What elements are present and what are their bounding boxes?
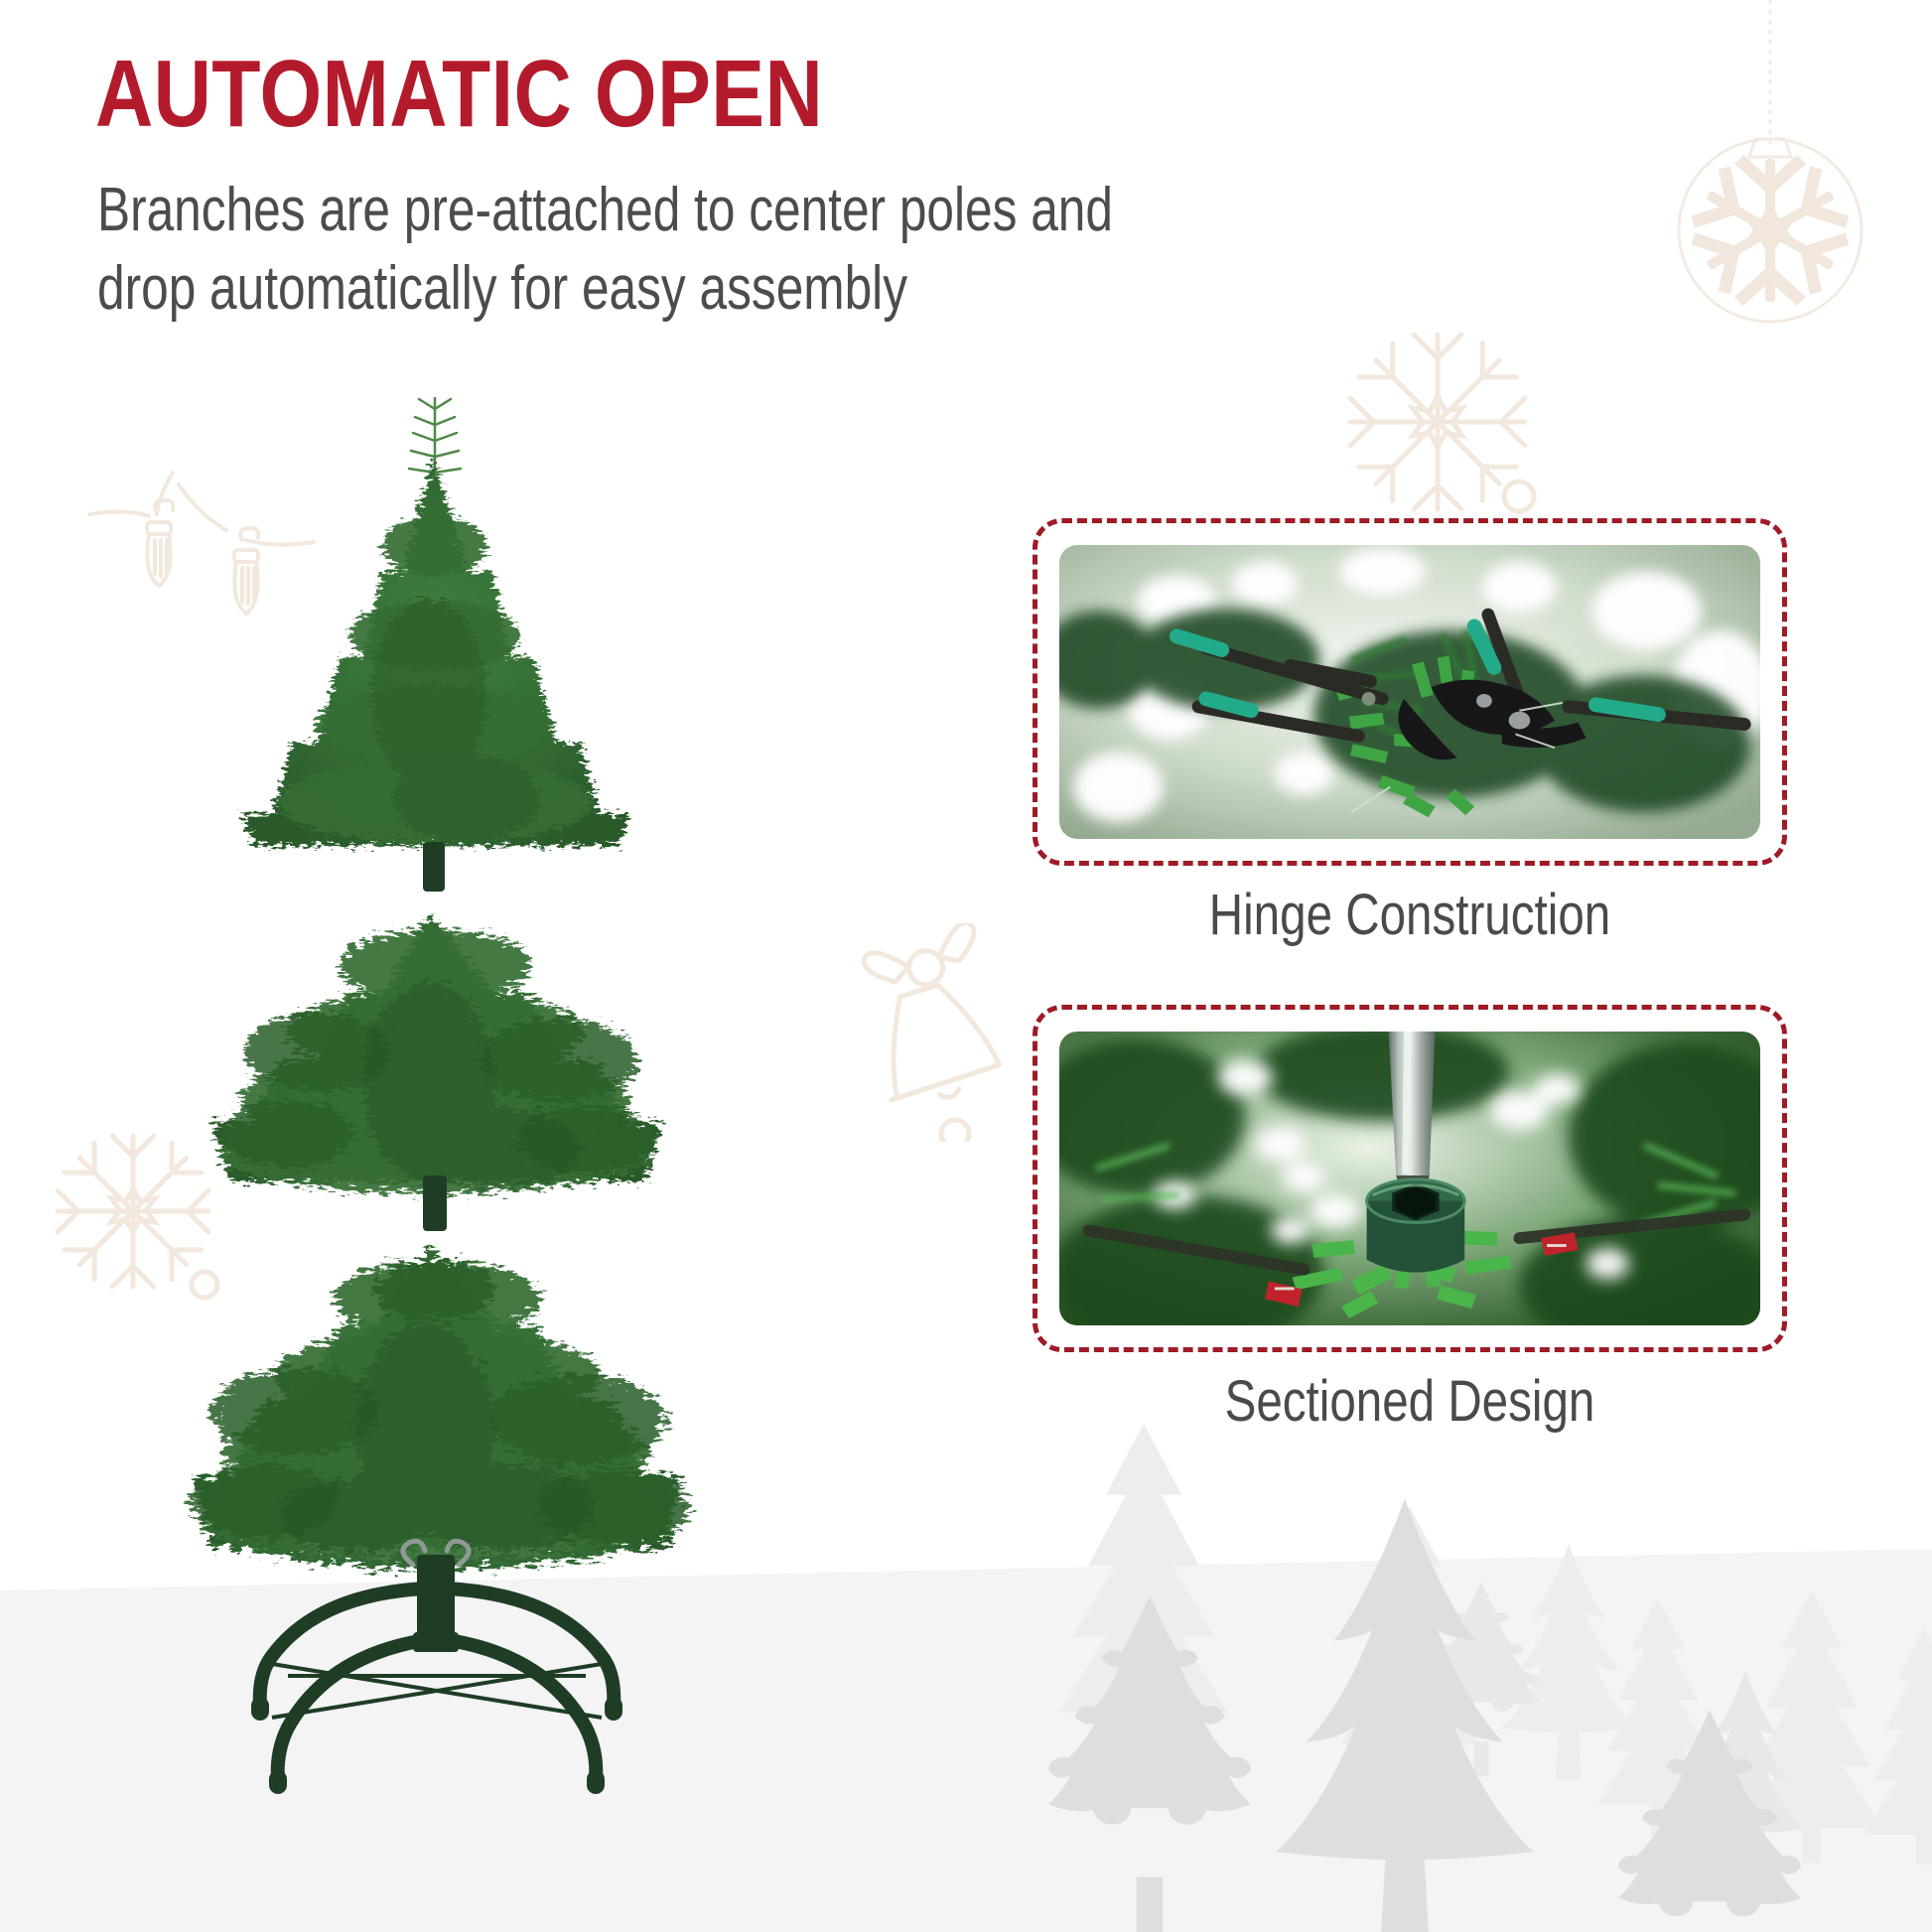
bell-icon	[852, 923, 1050, 1142]
tree-middle-section	[212, 913, 663, 1231]
page-title: AUTOMATIC OPEN	[95, 46, 823, 143]
page-subtitle-line-1: Branches are pre-attached to center pole…	[97, 171, 1400, 249]
sectioned-design-photo	[1059, 1032, 1760, 1325]
hinge-construction-photo	[1059, 545, 1760, 839]
snowflake-ornament-icon	[1646, 0, 1894, 328]
feature-caption-hinge: Hinge Construction	[1100, 882, 1719, 948]
snowflake-icon-top	[1330, 318, 1559, 526]
feature-card-hinge	[1033, 518, 1787, 866]
feature-card-sectioned	[1033, 1005, 1787, 1352]
feature-caption-sectioned: Sectioned Design	[1100, 1368, 1719, 1435]
page-subtitle: Branches are pre-attached to center pole…	[97, 171, 1400, 329]
product-tree-illustration	[169, 397, 725, 1932]
tree-stand	[260, 1541, 615, 1785]
infographic-canvas: AUTOMATIC OPEN Branches are pre-attached…	[0, 0, 1932, 1932]
tree-top-section	[240, 397, 629, 892]
page-subtitle-line-2: drop automatically for easy assembly	[97, 249, 1400, 328]
tree-bottom-section	[191, 1247, 689, 1570]
